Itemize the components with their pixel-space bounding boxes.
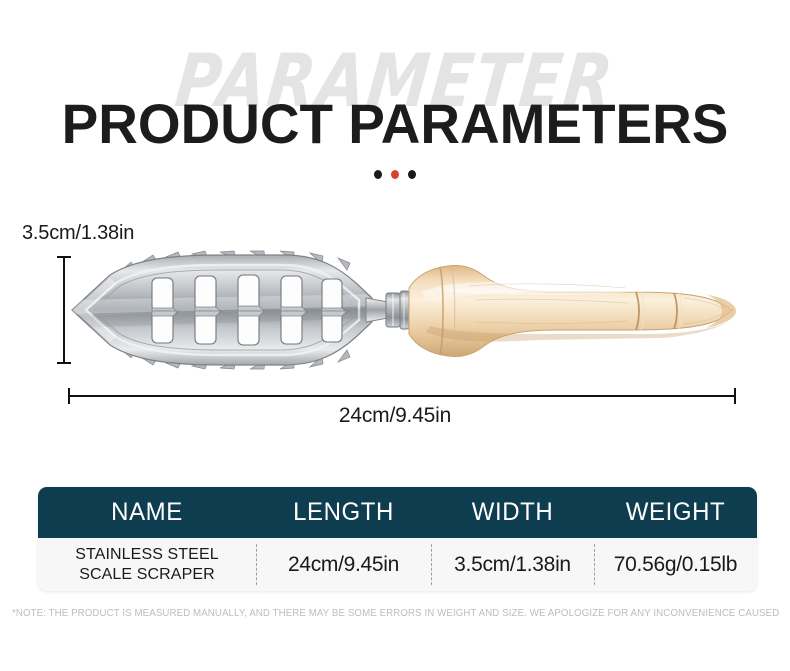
cell-length: 24cm/9.45in [256, 538, 431, 591]
cell-width: 3.5cm/1.38in [431, 538, 594, 591]
length-dimension-label: 24cm/9.45in [0, 404, 790, 428]
specification-table: NAME LENGTH WIDTH WEIGHT STAINLESS STEEL… [38, 487, 757, 591]
column-header-name: NAME [42, 487, 251, 538]
hdim-line [68, 395, 736, 397]
table-header-row: NAME LENGTH WIDTH WEIGHT [38, 487, 757, 538]
cell-product-name: STAINLESS STEEL SCALE SCRAPER [38, 538, 256, 591]
scraper-blade-head [70, 251, 380, 369]
height-dimension-label: 3.5cm/1.38in [22, 222, 134, 245]
page-title: PRODUCT PARAMETERS [8, 96, 782, 152]
vdim-line [63, 256, 65, 364]
table-row: STAINLESS STEEL SCALE SCRAPER 24cm/9.45i… [38, 538, 757, 591]
horizontal-dimension-line [68, 388, 736, 403]
product-image-scale-scraper [70, 248, 740, 373]
column-header-width: WIDTH [434, 487, 590, 538]
measurement-disclaimer-note: *NOTE: THE PRODUCT IS MEASURED MANUALLY,… [12, 608, 759, 619]
product-name-line-1: STAINLESS STEEL [75, 545, 218, 565]
wooden-handle [409, 265, 736, 356]
hdim-right-cap [734, 388, 736, 404]
dot-center-icon [391, 170, 399, 179]
decorative-dots [0, 170, 790, 179]
cell-weight: 70.56g/0.15lb [594, 538, 757, 591]
dot-right-icon [408, 170, 416, 179]
vertical-dimension-line [57, 256, 70, 364]
product-name-line-2: SCALE SCRAPER [75, 565, 218, 585]
column-header-length: LENGTH [260, 487, 428, 538]
handle-body [409, 265, 733, 356]
scraper-neck [366, 298, 388, 322]
title-block: PARAMETER PRODUCT PARAMETERS [0, 0, 790, 200]
column-header-weight: WEIGHT [597, 487, 753, 538]
vdim-bottom-cap [57, 362, 71, 364]
metal-ferrule [386, 291, 409, 329]
dot-left-icon [374, 170, 382, 179]
